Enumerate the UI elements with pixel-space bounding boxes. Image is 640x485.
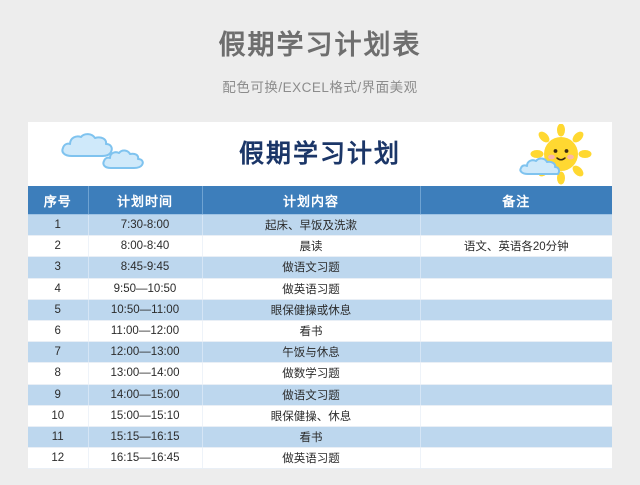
- cell-remark: [420, 299, 612, 320]
- cell-remark: [420, 278, 612, 299]
- table-row: 12 16:15—16:45 做英语习题: [28, 448, 612, 469]
- cell-no: 7: [28, 342, 88, 363]
- cell-remark: [420, 320, 612, 341]
- cell-content: 起床、早饭及洗漱: [202, 215, 420, 236]
- page-header: 假期学习计划表 配色可换/EXCEL格式/界面美观: [0, 0, 640, 98]
- column-header-no: 序号: [28, 186, 88, 215]
- table-row: 7 12:00—13:00 午饭与休息: [28, 342, 612, 363]
- column-header-time: 计划时间: [88, 186, 202, 215]
- cell-no: 10: [28, 405, 88, 426]
- cell-time: 15:00—15:10: [88, 405, 202, 426]
- cell-time: 14:00—15:00: [88, 384, 202, 405]
- cell-time: 11:00—12:00: [88, 320, 202, 341]
- table-row: 11 15:15—16:15 看书: [28, 426, 612, 447]
- cell-no: 2: [28, 236, 88, 257]
- cell-remark: [420, 215, 612, 236]
- page-root: 假期学习计划表 配色可换/EXCEL格式/界面美观: [0, 0, 640, 485]
- cell-no: 8: [28, 363, 88, 384]
- cell-no: 12: [28, 448, 88, 469]
- column-header-remark: 备注: [420, 186, 612, 215]
- table-row: 4 9:50—10:50 做英语习题: [28, 278, 612, 299]
- cell-content: 做语文习题: [202, 384, 420, 405]
- cell-content: 看书: [202, 426, 420, 447]
- cell-no: 11: [28, 426, 88, 447]
- cell-time: 7:30-8:00: [88, 215, 202, 236]
- table-header-row: 序号 计划时间 计划内容 备注: [28, 186, 612, 215]
- cell-content: 眼保健操、休息: [202, 405, 420, 426]
- cell-time: 12:00—13:00: [88, 342, 202, 363]
- cell-no: 6: [28, 320, 88, 341]
- table-row: 8 13:00—14:00 做数学习题: [28, 363, 612, 384]
- cell-content: 做数学习题: [202, 363, 420, 384]
- table-row: 9 14:00—15:00 做语文习题: [28, 384, 612, 405]
- table-row: 6 11:00—12:00 看书: [28, 320, 612, 341]
- cell-remark: 语文、英语各20分钟: [420, 236, 612, 257]
- cell-content: 做语文习题: [202, 257, 420, 278]
- cell-remark: [420, 448, 612, 469]
- cell-remark: [420, 257, 612, 278]
- cell-no: 1: [28, 215, 88, 236]
- cell-remark: [420, 384, 612, 405]
- cell-content: 做英语习题: [202, 278, 420, 299]
- cell-time: 10:50—11:00: [88, 299, 202, 320]
- cell-no: 4: [28, 278, 88, 299]
- table-row: 3 8:45-9:45 做语文习题: [28, 257, 612, 278]
- cell-content: 晨读: [202, 236, 420, 257]
- cell-no: 3: [28, 257, 88, 278]
- cell-time: 8:45-9:45: [88, 257, 202, 278]
- plan-card: 假期学习计划 序号 计划时间 计划内容 备注 1 7:30-8:00 起床、早饭…: [28, 122, 612, 469]
- cell-time: 9:50—10:50: [88, 278, 202, 299]
- page-title: 假期学习计划表: [0, 28, 640, 62]
- cell-no: 9: [28, 384, 88, 405]
- cell-content: 眼保健操或休息: [202, 299, 420, 320]
- cell-content: 午饭与休息: [202, 342, 420, 363]
- table-row: 2 8:00-8:40 晨读 语文、英语各20分钟: [28, 236, 612, 257]
- cell-content: 做英语习题: [202, 448, 420, 469]
- table-row: 5 10:50—11:00 眼保健操或休息: [28, 299, 612, 320]
- cell-no: 5: [28, 299, 88, 320]
- cell-time: 16:15—16:45: [88, 448, 202, 469]
- page-subtitle: 配色可换/EXCEL格式/界面美观: [0, 78, 640, 98]
- cell-time: 15:15—16:15: [88, 426, 202, 447]
- cell-remark: [420, 426, 612, 447]
- card-banner: 假期学习计划: [28, 122, 612, 186]
- table-row: 10 15:00—15:10 眼保健操、休息: [28, 405, 612, 426]
- cell-time: 8:00-8:40: [88, 236, 202, 257]
- table-row: 1 7:30-8:00 起床、早饭及洗漱: [28, 215, 612, 236]
- table-body: 1 7:30-8:00 起床、早饭及洗漱 2 8:00-8:40 晨读 语文、英…: [28, 215, 612, 469]
- cell-content: 看书: [202, 320, 420, 341]
- plan-table: 序号 计划时间 计划内容 备注 1 7:30-8:00 起床、早饭及洗漱 2 8…: [28, 186, 612, 469]
- table-head: 序号 计划时间 计划内容 备注: [28, 186, 612, 215]
- card-title: 假期学习计划: [28, 138, 612, 170]
- cell-remark: [420, 405, 612, 426]
- column-header-content: 计划内容: [202, 186, 420, 215]
- cell-remark: [420, 342, 612, 363]
- cell-time: 13:00—14:00: [88, 363, 202, 384]
- cell-remark: [420, 363, 612, 384]
